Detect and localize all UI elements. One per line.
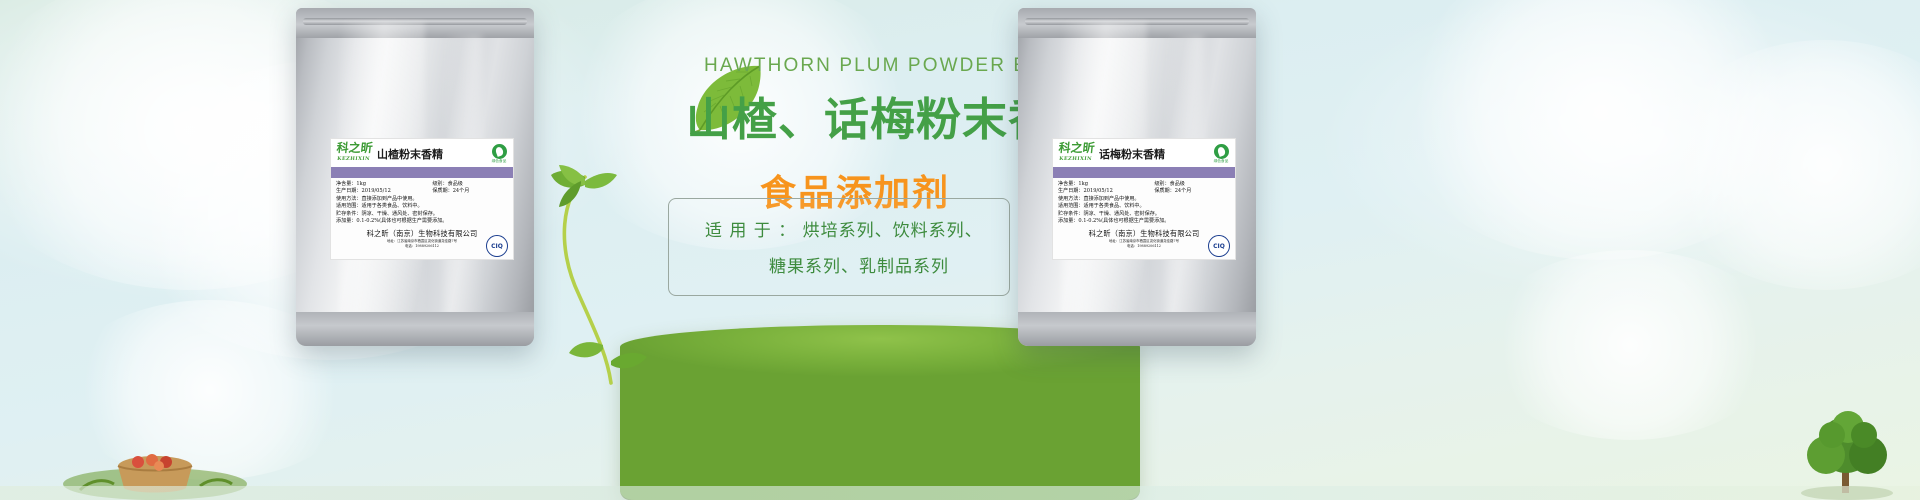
label-header: 科之昕 KEZHIXIN 山楂粉末香精 绿色食品 bbox=[331, 139, 513, 167]
company-name: 科之昕（南京）生物科技有限公司 bbox=[331, 229, 513, 239]
green-food-badge: 绿色食品 bbox=[489, 144, 509, 164]
label-spec-list: 净含量：1kg 级别：食品级 生产日期：2019/05/12 保质期：24个月 … bbox=[1053, 178, 1235, 227]
ciq-seal-icon: CIQ bbox=[1208, 235, 1230, 257]
green-food-badge: 绿色食品 bbox=[1211, 144, 1231, 164]
promo-banner: HAWTHORN PLUM POWDER ESSENCE 山楂、话梅粉末香精 食… bbox=[0, 0, 1920, 500]
label-row: 适用范围：适用于各类食品、饮料中。 bbox=[336, 203, 508, 210]
cloud-decoration bbox=[1390, 0, 1810, 260]
product-bag-1[interactable]: 科之昕 KEZHIXIN 山楂粉末香精 绿色食品 净含量：1kg 级别：食品级 … bbox=[296, 8, 534, 346]
label-accent-bar bbox=[1053, 167, 1235, 178]
label-row: 适用范围：适用于各类食品、饮料中。 bbox=[1058, 203, 1230, 210]
label-row: 生产日期：2019/05/12 保质期：24个月 bbox=[1058, 188, 1230, 195]
bag-zipper bbox=[1025, 18, 1249, 25]
cloud-decoration bbox=[1660, 40, 1920, 290]
label-row: 贮存条件：阴凉、干燥、通风处、密封保存。 bbox=[336, 211, 508, 218]
label-accent-bar bbox=[331, 167, 513, 178]
bag-bottom-gusset bbox=[1018, 312, 1256, 346]
label-header: 科之昕 KEZHIXIN 话梅粉末香精 绿色食品 bbox=[1053, 139, 1235, 167]
product-name: 话梅粉末香精 bbox=[1099, 146, 1165, 162]
product-label: 科之昕 KEZHIXIN 话梅粉末香精 绿色食品 净含量：1kg 级别：食品级 … bbox=[1052, 138, 1236, 260]
product-label: 科之昕 KEZHIXIN 山楂粉末香精 绿色食品 净含量：1kg 级别：食品级 … bbox=[330, 138, 514, 260]
label-row: 添加量：0.1-0.2%(具体也可根据生产需要添加。 bbox=[336, 218, 508, 225]
brand-logo: 科之昕 KEZHIXIN bbox=[335, 143, 373, 165]
product-bag-2[interactable]: 科之昕 KEZHIXIN 话梅粉末香精 绿色食品 净含量：1kg 级别：食品级 … bbox=[1018, 8, 1256, 346]
ciq-seal-icon: CIQ bbox=[486, 235, 508, 257]
page-title: 山楂、话梅粉末香精 bbox=[660, 83, 1080, 148]
brand-logo: 科之昕 KEZHIXIN bbox=[1057, 143, 1095, 165]
application-box: 适 用 于 ： 烘培系列、饮料系列、 糖果系列、乳制品系列 bbox=[668, 198, 1010, 296]
eyebrow-text: HAWTHORN PLUM POWDER ESSENCE bbox=[660, 55, 1080, 77]
grass-podium bbox=[620, 325, 1140, 500]
headline-block: HAWTHORN PLUM POWDER ESSENCE 山楂、话梅粉末香精 食… bbox=[660, 55, 1080, 216]
label-spec-list: 净含量：1kg 级别：食品级 生产日期：2019/05/12 保质期：24个月 … bbox=[331, 178, 513, 227]
leaf-badge-icon bbox=[1214, 144, 1229, 159]
company-name: 科之昕（南京）生物科技有限公司 bbox=[1053, 229, 1235, 239]
product-name: 山楂粉末香精 bbox=[377, 146, 443, 162]
label-row: 生产日期：2019/05/12 保质期：24个月 bbox=[336, 188, 508, 195]
label-row: 贮存条件：阴凉、干燥、通风处、密封保存。 bbox=[1058, 211, 1230, 218]
application-line-1: 适 用 于 ： 烘培系列、饮料系列、 bbox=[669, 213, 1009, 249]
application-line-2: 糖果系列、乳制品系列 bbox=[669, 249, 1009, 285]
bag-bottom-gusset bbox=[296, 312, 534, 346]
cloud-decoration bbox=[1480, 250, 1780, 440]
label-row: 添加量：0.1-0.2%(具体也可根据生产需要添加。 bbox=[1058, 218, 1230, 225]
leaf-badge-icon bbox=[492, 144, 507, 159]
sprout-icon bbox=[545, 155, 675, 385]
ground-strip bbox=[0, 486, 1920, 500]
bag-zipper bbox=[303, 18, 527, 25]
